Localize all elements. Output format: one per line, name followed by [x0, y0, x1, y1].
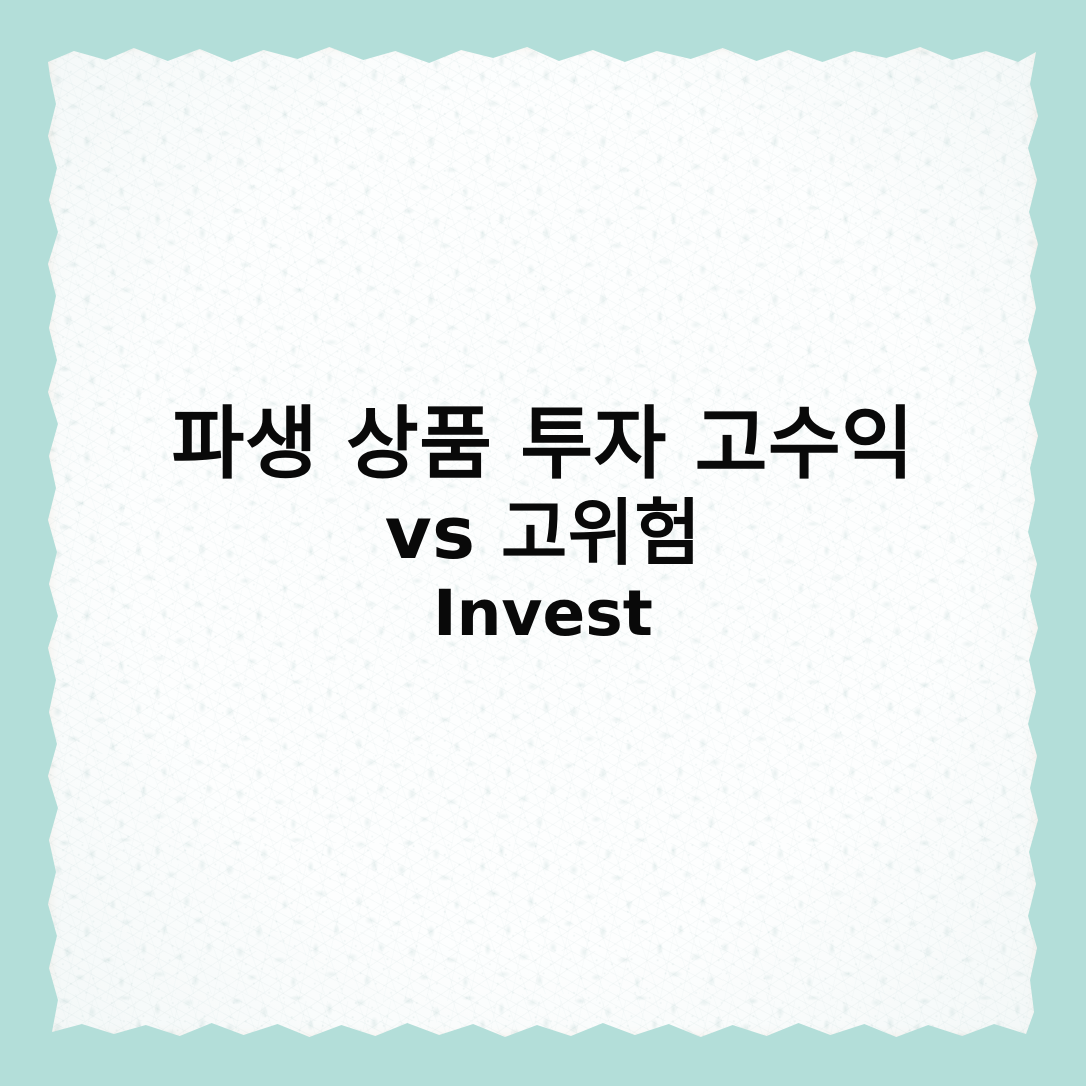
poster-canvas: 파생 상품 투자 고수익 vs 고위험 Invest	[0, 0, 1086, 1086]
headline-line-2: vs 고위험	[34, 490, 1052, 576]
headline-line-1: 파생 상품 투자 고수익	[34, 398, 1052, 490]
headline-line-3: Invest	[34, 576, 1052, 652]
headline-block: 파생 상품 투자 고수익 vs 고위험 Invest	[0, 398, 1086, 652]
